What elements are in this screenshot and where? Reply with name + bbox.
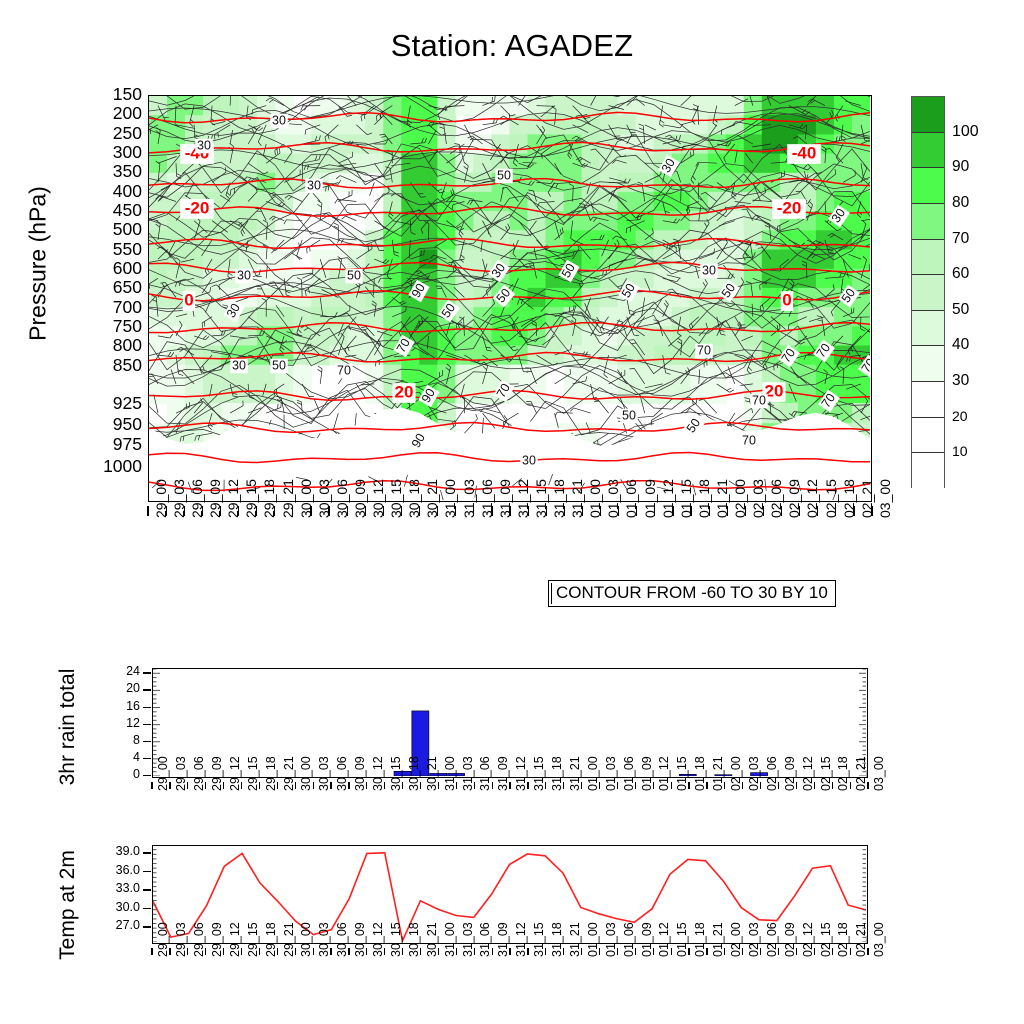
x-tick-mark bbox=[799, 506, 800, 516]
x-tick-mark bbox=[384, 948, 385, 955]
pressure-tick-label: 925 bbox=[84, 395, 142, 413]
x-tick-mark bbox=[600, 506, 601, 516]
x-tick-mark bbox=[169, 782, 170, 789]
x-tick-label: 02_15 bbox=[820, 756, 833, 791]
x-tick-label: 30_15 bbox=[390, 756, 403, 791]
svg-text:30: 30 bbox=[197, 138, 211, 152]
pressure-tick-label: 350 bbox=[84, 163, 142, 181]
x-tick-mark bbox=[742, 782, 743, 789]
x-tick-mark bbox=[223, 948, 224, 955]
colorbar-segment[interactable] bbox=[912, 311, 944, 347]
humidity-colorbar[interactable] bbox=[911, 96, 945, 488]
x-tick-label: 30_00 bbox=[300, 922, 313, 957]
x-tick-mark bbox=[473, 506, 474, 516]
pressure-tick-label: 500 bbox=[84, 221, 142, 239]
x-tick-mark bbox=[384, 782, 385, 789]
pressure-tick-label: 750 bbox=[84, 318, 142, 336]
temp-tick-mark bbox=[143, 889, 151, 890]
x-tick-mark bbox=[166, 506, 167, 516]
rain-tick-label: 20 bbox=[100, 682, 140, 695]
colorbar-tick-label: 10 bbox=[952, 444, 968, 458]
x-tick-label: 01_06 bbox=[623, 756, 636, 791]
rain-tick-label: 16 bbox=[100, 700, 140, 713]
x-tick-mark bbox=[328, 506, 329, 516]
x-tick-label: 01_12 bbox=[658, 922, 671, 957]
x-tick-mark bbox=[814, 782, 815, 789]
x-tick-mark bbox=[742, 948, 743, 955]
x-tick-label: 31_21 bbox=[569, 756, 582, 791]
x-tick-label: 31_03 bbox=[462, 922, 475, 957]
temp-tick-mark bbox=[143, 908, 151, 909]
pressure-tick-label: 950 bbox=[84, 416, 142, 434]
x-tick-label: 01_12 bbox=[658, 756, 671, 791]
rain-tick-label: 24 bbox=[100, 665, 140, 678]
x-tick-mark bbox=[671, 948, 672, 955]
rain-tick-mark bbox=[143, 707, 151, 708]
x-tick-label: 30_06 bbox=[336, 756, 349, 791]
x-tick-label: 02_15 bbox=[820, 922, 833, 957]
x-tick-label: 31_09 bbox=[497, 756, 510, 791]
x-tick-label: 30_09 bbox=[354, 756, 367, 791]
x-tick-mark bbox=[599, 948, 600, 955]
x-tick-mark bbox=[365, 506, 366, 516]
x-tick-mark bbox=[745, 506, 746, 516]
x-tick-label: 30_09 bbox=[354, 922, 367, 957]
x-tick-mark bbox=[618, 506, 619, 516]
x-tick-label: 30_15 bbox=[390, 922, 403, 957]
rain-tick-label: 8 bbox=[100, 734, 140, 747]
colorbar-segment[interactable] bbox=[912, 240, 944, 276]
pressure-axis-ticks: 1502002503003504004505005506006507007508… bbox=[78, 95, 142, 502]
pressure-tick-label: 975 bbox=[84, 436, 142, 454]
colorbar-segment[interactable] bbox=[912, 275, 944, 311]
x-tick-mark bbox=[456, 948, 457, 955]
x-tick-mark bbox=[509, 506, 510, 516]
x-tick-mark bbox=[653, 948, 654, 955]
x-tick-mark bbox=[223, 782, 224, 789]
svg-text:30: 30 bbox=[272, 113, 286, 127]
x-tick-mark bbox=[347, 506, 348, 516]
page-title: Station: AGADEZ bbox=[0, 28, 1024, 64]
svg-text:50: 50 bbox=[497, 168, 511, 182]
x-tick-label: 03_00 bbox=[873, 922, 886, 957]
x-tick-mark bbox=[187, 948, 188, 955]
x-tick-label: 29_03 bbox=[175, 922, 188, 957]
colorbar-tick-label: 80 bbox=[952, 195, 969, 211]
x-tick-mark bbox=[545, 948, 546, 955]
x-tick-mark bbox=[581, 782, 582, 789]
x-tick-mark bbox=[187, 782, 188, 789]
x-tick-mark bbox=[867, 782, 868, 789]
x-tick-mark bbox=[835, 506, 836, 516]
x-tick-mark bbox=[724, 948, 725, 955]
temp-x-axis-labels: 29_0029_0329_0629_0929_1229_1529_1829_21… bbox=[152, 948, 868, 1010]
svg-text:-20: -20 bbox=[185, 198, 210, 217]
x-tick-label: 01_15 bbox=[676, 756, 689, 791]
x-tick-mark bbox=[778, 782, 779, 789]
x-tick-label: 29_06 bbox=[193, 922, 206, 957]
x-tick-mark bbox=[366, 782, 367, 789]
x-tick-mark bbox=[256, 506, 257, 516]
pressure-tick-label: 800 bbox=[84, 337, 142, 355]
x-tick-mark bbox=[688, 782, 689, 789]
x-tick-mark bbox=[438, 948, 439, 955]
x-tick-mark bbox=[690, 506, 691, 516]
x-tick-mark bbox=[184, 506, 185, 516]
x-tick-mark bbox=[238, 506, 239, 516]
x-tick-label: 01_00 bbox=[587, 922, 600, 957]
x-tick-mark bbox=[832, 782, 833, 789]
temp-tick-label: 30.0 bbox=[90, 901, 140, 914]
x-tick-mark bbox=[867, 948, 868, 955]
temp-tick-label: 33.0 bbox=[90, 882, 140, 895]
x-tick-label: 01_03 bbox=[605, 922, 618, 957]
x-tick-mark bbox=[635, 782, 636, 789]
svg-text:70: 70 bbox=[752, 393, 766, 407]
x-tick-label: 01_09 bbox=[641, 756, 654, 791]
x-tick-label: 02_18 bbox=[837, 922, 850, 957]
x-tick-mark bbox=[814, 948, 815, 955]
x-tick-label: 02_21 bbox=[855, 922, 868, 957]
x-tick-label: 29_15 bbox=[247, 756, 260, 791]
x-tick-mark bbox=[760, 782, 761, 789]
x-tick-mark bbox=[492, 782, 493, 789]
x-tick-label: 02_00 bbox=[730, 756, 743, 791]
pressure-tick-label: 700 bbox=[84, 299, 142, 317]
svg-text:0: 0 bbox=[184, 290, 193, 309]
pressure-tick-label: 650 bbox=[84, 279, 142, 297]
x-tick-mark bbox=[295, 782, 296, 789]
colorbar-segment[interactable] bbox=[912, 97, 944, 133]
x-tick-label: 29_12 bbox=[229, 756, 242, 791]
x-tick-label: 29_06 bbox=[193, 756, 206, 791]
x-tick-mark bbox=[617, 948, 618, 955]
x-tick-label: 31_06 bbox=[479, 756, 492, 791]
x-tick-mark bbox=[546, 506, 547, 516]
x-tick-mark bbox=[455, 506, 456, 516]
rain-tick-mark bbox=[143, 689, 151, 690]
x-tick-mark bbox=[781, 506, 782, 516]
x-tick-label: 29_21 bbox=[283, 756, 296, 791]
x-tick-mark bbox=[420, 948, 421, 955]
x-tick-mark bbox=[147, 506, 148, 516]
colorbar-tick-label: 60 bbox=[952, 266, 969, 282]
x-tick-mark bbox=[241, 948, 242, 955]
main-x-axis-labels: 29_0029_0329_0629_0929_1229_1529_1829_21… bbox=[148, 506, 872, 568]
x-tick-mark bbox=[330, 782, 331, 789]
x-tick-label: 29_21 bbox=[283, 922, 296, 957]
x-tick-mark bbox=[599, 782, 600, 789]
x-tick-mark bbox=[709, 506, 710, 516]
rain-tick-mark bbox=[143, 758, 151, 759]
pressure-tick-label: 550 bbox=[84, 241, 142, 259]
x-tick-mark bbox=[706, 782, 707, 789]
x-tick-mark bbox=[202, 506, 203, 516]
x-tick-mark bbox=[545, 782, 546, 789]
colorbar-tick-label: 100 bbox=[952, 124, 979, 140]
x-tick-label: 02_06 bbox=[766, 922, 779, 957]
colorbar-segment[interactable] bbox=[912, 418, 944, 454]
colorbar-segment[interactable] bbox=[912, 382, 944, 418]
x-tick-mark bbox=[528, 506, 529, 516]
x-tick-mark bbox=[635, 948, 636, 955]
pressure-tick-label: 250 bbox=[84, 125, 142, 143]
x-tick-label: 31_21 bbox=[569, 922, 582, 957]
x-tick-label: 30_18 bbox=[408, 756, 421, 791]
x-tick-label: 03_00 bbox=[873, 756, 886, 791]
x-tick-mark bbox=[259, 948, 260, 955]
pressure-tick-label: 300 bbox=[84, 144, 142, 162]
x-tick-label: 31_09 bbox=[497, 922, 510, 957]
x-tick-mark bbox=[292, 506, 293, 516]
svg-text:70: 70 bbox=[697, 343, 711, 357]
temp-tick-label: 36.0 bbox=[90, 864, 140, 877]
x-tick-label: 29_18 bbox=[265, 922, 278, 957]
x-tick-mark bbox=[688, 948, 689, 955]
svg-text:70: 70 bbox=[337, 363, 351, 377]
x-tick-mark bbox=[402, 782, 403, 789]
x-tick-label: 30_12 bbox=[372, 756, 385, 791]
x-tick-label: 02_12 bbox=[802, 922, 815, 957]
x-tick-label: 02_09 bbox=[784, 922, 797, 957]
x-tick-label: 02_03 bbox=[748, 922, 761, 957]
x-tick-mark bbox=[564, 506, 565, 516]
temp-tick-label: 39.0 bbox=[90, 845, 140, 858]
temp-tick-label: 27.0 bbox=[90, 919, 140, 932]
x-tick-mark bbox=[654, 506, 655, 516]
x-tick-label: 31_18 bbox=[551, 922, 564, 957]
x-tick-label: 29_00 bbox=[157, 756, 170, 791]
rain-tick-label: 4 bbox=[100, 751, 140, 764]
x-tick-label: 30_21 bbox=[426, 756, 439, 791]
colorbar-tick-label: 40 bbox=[952, 337, 969, 353]
x-tick-mark bbox=[402, 948, 403, 955]
svg-text:50: 50 bbox=[272, 358, 286, 372]
x-tick-label: 01_15 bbox=[676, 922, 689, 957]
x-tick-label: 02_12 bbox=[802, 756, 815, 791]
x-tick-mark bbox=[420, 782, 421, 789]
x-tick-mark bbox=[151, 782, 152, 789]
colorbar-tick-label: 90 bbox=[952, 159, 969, 175]
x-tick-label: 02_00 bbox=[730, 922, 743, 957]
x-tick-mark bbox=[817, 506, 818, 516]
x-tick-mark bbox=[509, 948, 510, 955]
x-tick-mark bbox=[220, 506, 221, 516]
temp-axis-label: Temp at 2m bbox=[56, 825, 80, 985]
pressure-tick-label: 600 bbox=[84, 260, 142, 278]
x-tick-mark bbox=[474, 782, 475, 789]
x-tick-mark bbox=[527, 948, 528, 955]
x-tick-mark bbox=[151, 948, 152, 955]
x-tick-label: 31_15 bbox=[533, 756, 546, 791]
x-tick-label: 30_00 bbox=[300, 756, 313, 791]
x-tick-label: 29_15 bbox=[247, 922, 260, 957]
x-tick-label: 01_21 bbox=[712, 922, 725, 957]
x-tick-mark bbox=[366, 948, 367, 955]
rain-tick-label: 12 bbox=[100, 717, 140, 730]
x-tick-label: 02_21 bbox=[855, 756, 868, 791]
rain-x-axis-labels: 29_0029_0329_0629_0929_1229_1529_1829_21… bbox=[152, 782, 868, 844]
x-tick-label: 29_09 bbox=[211, 922, 224, 957]
colorbar-tick-label: 70 bbox=[952, 231, 969, 247]
x-tick-label: 30_12 bbox=[372, 922, 385, 957]
x-tick-mark bbox=[383, 506, 384, 516]
x-tick-label: 02_03 bbox=[748, 756, 761, 791]
x-tick-mark bbox=[563, 782, 564, 789]
x-tick-mark bbox=[563, 948, 564, 955]
colorbar-segment[interactable] bbox=[912, 453, 944, 489]
rain-tick-mark bbox=[143, 775, 151, 776]
x-tick-label: 31_06 bbox=[479, 922, 492, 957]
colorbar-tick-label: 50 bbox=[952, 302, 969, 318]
x-tick-mark bbox=[401, 506, 402, 516]
svg-text:20: 20 bbox=[395, 382, 414, 401]
x-tick-mark bbox=[636, 506, 637, 516]
x-tick-mark bbox=[850, 782, 851, 789]
x-tick-label: 30_03 bbox=[318, 922, 331, 957]
x-tick-label: 30_21 bbox=[426, 922, 439, 957]
x-tick-mark bbox=[763, 506, 764, 516]
x-tick-mark bbox=[274, 506, 275, 516]
x-tick-label: 01_09 bbox=[641, 922, 654, 957]
x-tick-label: 31_00 bbox=[444, 756, 457, 791]
sounding-time-height-plot[interactable]: -40-40-20-200020203030305030305030503030… bbox=[148, 95, 872, 502]
colorbar-segment[interactable] bbox=[912, 204, 944, 240]
x-tick-mark bbox=[778, 948, 779, 955]
pressure-tick-label: 400 bbox=[84, 183, 142, 201]
x-tick-mark bbox=[672, 506, 673, 516]
x-tick-label: 01_00 bbox=[587, 756, 600, 791]
x-tick-mark bbox=[832, 948, 833, 955]
x-tick-mark bbox=[509, 782, 510, 789]
x-tick-label: 01_18 bbox=[694, 922, 707, 957]
x-tick-mark bbox=[474, 948, 475, 955]
svg-text:50: 50 bbox=[347, 268, 361, 282]
x-tick-mark bbox=[581, 948, 582, 955]
x-tick-mark bbox=[437, 506, 438, 516]
x-tick-mark bbox=[491, 506, 492, 516]
colorbar-segment[interactable] bbox=[912, 168, 944, 204]
x-tick-label: 01_03 bbox=[605, 756, 618, 791]
pressure-tick-label: 1000 bbox=[84, 458, 142, 476]
x-tick-mark bbox=[671, 782, 672, 789]
x-tick-label: 29_18 bbox=[265, 756, 278, 791]
rain-tick-mark bbox=[143, 724, 151, 725]
colorbar-tick-label: 30 bbox=[952, 373, 969, 389]
x-tick-label: 29_09 bbox=[211, 756, 224, 791]
rain-axis-label: 3hr rain total bbox=[56, 637, 80, 817]
x-tick-mark bbox=[277, 782, 278, 789]
svg-text:30: 30 bbox=[232, 358, 246, 372]
x-tick-mark bbox=[850, 948, 851, 955]
x-tick-mark bbox=[853, 506, 854, 516]
temp-tick-mark bbox=[143, 852, 151, 853]
x-tick-mark bbox=[310, 506, 311, 516]
x-tick-label: 29_00 bbox=[157, 922, 170, 957]
x-tick-mark bbox=[456, 782, 457, 789]
x-tick-mark bbox=[582, 506, 583, 516]
x-tick-label: 30_03 bbox=[318, 756, 331, 791]
svg-text:30: 30 bbox=[307, 178, 321, 192]
x-tick-label: 02_09 bbox=[784, 756, 797, 791]
rain-tick-label: 0 bbox=[100, 768, 140, 781]
svg-text:70: 70 bbox=[742, 433, 756, 447]
svg-text:30: 30 bbox=[237, 268, 251, 282]
temp-tick-mark bbox=[143, 871, 151, 872]
svg-text:30: 30 bbox=[522, 453, 536, 467]
x-tick-label: 02_18 bbox=[837, 756, 850, 791]
x-tick-label: 01_21 bbox=[712, 756, 725, 791]
x-tick-mark bbox=[527, 782, 528, 789]
x-tick-mark bbox=[169, 948, 170, 955]
contour-caption: CONTOUR FROM -60 TO 30 BY 10 bbox=[548, 580, 836, 607]
x-tick-mark bbox=[724, 782, 725, 789]
x-tick-label: 29_12 bbox=[229, 922, 242, 957]
x-tick-mark bbox=[259, 782, 260, 789]
x-tick-label: 31_00 bbox=[444, 922, 457, 957]
x-tick-mark bbox=[438, 782, 439, 789]
pressure-tick-label: 450 bbox=[84, 202, 142, 220]
x-tick-mark bbox=[796, 782, 797, 789]
colorbar-tick-label: 20 bbox=[952, 409, 968, 423]
x-tick-label: 30_18 bbox=[408, 922, 421, 957]
svg-text:0: 0 bbox=[782, 290, 791, 309]
x-tick-label: 02_06 bbox=[766, 756, 779, 791]
x-tick-mark bbox=[871, 506, 872, 516]
x-tick-mark bbox=[313, 782, 314, 789]
x-tick-mark bbox=[706, 948, 707, 955]
svg-text:30: 30 bbox=[702, 263, 716, 277]
x-tick-label: 31_18 bbox=[551, 756, 564, 791]
svg-text:-40: -40 bbox=[792, 143, 817, 162]
pressure-tick-label: 850 bbox=[84, 357, 142, 375]
x-tick-mark bbox=[295, 948, 296, 955]
x-tick-label: 29_03 bbox=[175, 756, 188, 791]
temp-tick-mark bbox=[143, 926, 151, 927]
colorbar-segment[interactable] bbox=[912, 133, 944, 169]
svg-text:50: 50 bbox=[622, 408, 636, 422]
x-tick-mark bbox=[419, 506, 420, 516]
x-tick-mark bbox=[348, 948, 349, 955]
x-tick-mark bbox=[617, 782, 618, 789]
x-tick-label: 03_00 bbox=[878, 479, 892, 518]
svg-text:-20: -20 bbox=[777, 198, 802, 217]
rain-tick-mark bbox=[143, 672, 151, 673]
colorbar-segment[interactable] bbox=[912, 346, 944, 382]
x-tick-mark bbox=[760, 948, 761, 955]
x-tick-label: 31_12 bbox=[515, 922, 528, 957]
x-tick-label: 31_12 bbox=[515, 756, 528, 791]
x-tick-mark bbox=[205, 782, 206, 789]
x-tick-mark bbox=[653, 782, 654, 789]
x-tick-mark bbox=[348, 782, 349, 789]
pressure-tick-label: 150 bbox=[84, 86, 142, 104]
rain-tick-mark bbox=[143, 741, 151, 742]
x-tick-label: 30_06 bbox=[336, 922, 349, 957]
x-tick-label: 31_15 bbox=[533, 922, 546, 957]
x-tick-mark bbox=[277, 948, 278, 955]
x-tick-mark bbox=[330, 948, 331, 955]
x-tick-mark bbox=[796, 948, 797, 955]
pressure-tick-label: 200 bbox=[84, 105, 142, 123]
x-tick-mark bbox=[241, 782, 242, 789]
x-tick-mark bbox=[313, 948, 314, 955]
x-tick-label: 01_06 bbox=[623, 922, 636, 957]
x-tick-mark bbox=[205, 948, 206, 955]
x-tick-mark bbox=[492, 948, 493, 955]
x-tick-label: 31_03 bbox=[462, 756, 475, 791]
pressure-axis-label: Pressure (hPa) bbox=[25, 104, 52, 424]
